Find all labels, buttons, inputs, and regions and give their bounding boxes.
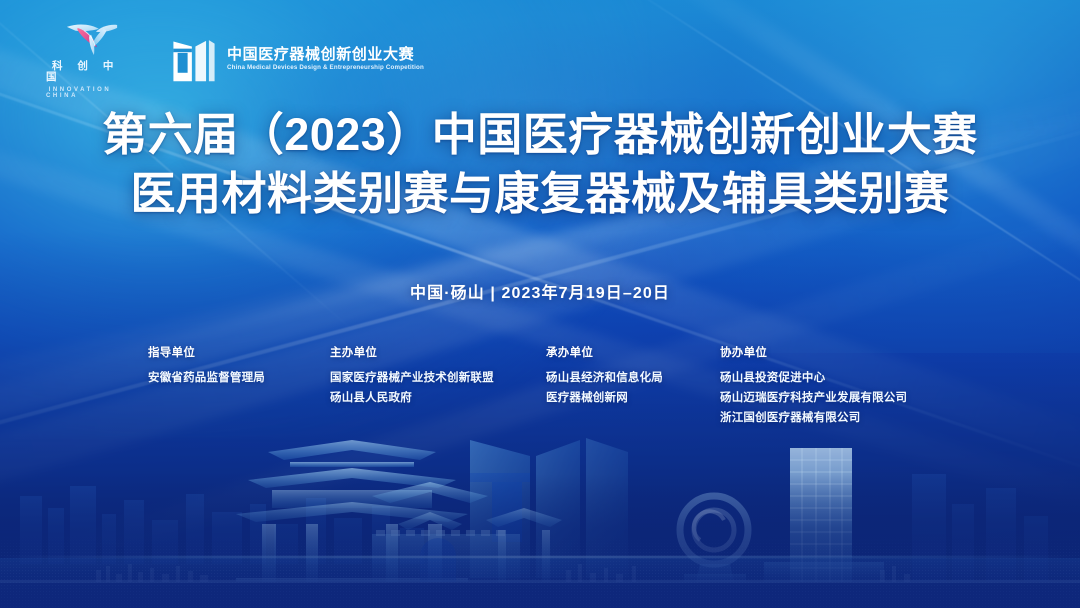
competition-cn-label: 中国医疗器械创新创业大赛: [227, 47, 424, 62]
organizer-heading: 主办单位: [330, 344, 546, 360]
innovation-china-bird-icon: [63, 20, 121, 58]
organizer-column-guidance: 指导单位 安徽省药品监督管理局: [148, 344, 330, 428]
organizer-heading: 承办单位: [546, 344, 720, 360]
event-location-date: 中国·砀山 | 2023年7月19日–20日: [0, 279, 1080, 303]
organizer-column-host: 主办单位 国家医疗器械产业技术创新联盟 砀山县人民政府: [330, 344, 546, 428]
organizer-item: 浙江国创医疗器械有限公司: [720, 409, 972, 429]
bottom-shadow-overlay: [0, 474, 1080, 608]
title-line-1: 第六届（2023）中国医疗器械创新创业大赛: [0, 106, 1080, 165]
logo-innovation-china: 科 创 中 国 INNOVATION CHINA: [46, 20, 138, 99]
open-door-icon: [172, 37, 216, 83]
organizer-item: 安徽省药品监督管理局: [148, 369, 330, 389]
organizer-heading: 协办单位: [720, 344, 972, 360]
organizer-item: 砀山县投资促进中心: [720, 369, 972, 389]
organizer-item: 砀山迈瑞医疗科技产业发展有限公司: [720, 389, 972, 409]
poster-title: 第六届（2023）中国医疗器械创新创业大赛 医用材料类别赛与康复器械及辅具类别赛: [0, 106, 1080, 223]
organizer-heading: 指导单位: [148, 344, 330, 360]
innovation-china-en-label: INNOVATION CHINA: [46, 87, 138, 99]
organizer-item: 国家医疗器械产业技术创新联盟: [330, 369, 546, 389]
header-logos: 科 创 中 国 INNOVATION CHINA 中国医疗器械创新创业大赛 Ch…: [46, 20, 424, 99]
poster-canvas: 科 创 中 国 INNOVATION CHINA 中国医疗器械创新创业大赛 Ch…: [0, 0, 1080, 608]
organizer-column-coorganizer: 协办单位 砀山县投资促进中心 砀山迈瑞医疗科技产业发展有限公司 浙江国创医疗器械…: [720, 344, 972, 428]
organizer-item: 砀山县人民政府: [330, 389, 546, 409]
logo-competition: 中国医疗器械创新创业大赛 China Medical Devices Desig…: [172, 37, 424, 83]
organizer-column-organizer: 承办单位 砀山县经济和信息化局 医疗器械创新网: [546, 344, 720, 428]
innovation-china-cn-label: 科 创 中 国: [46, 61, 138, 82]
title-line-2: 医用材料类别赛与康复器械及辅具类别赛: [0, 165, 1080, 224]
organizer-item: 砀山县经济和信息化局: [546, 369, 720, 389]
organizer-item: 医疗器械创新网: [546, 389, 720, 409]
organizers-block: 指导单位 安徽省药品监督管理局 主办单位 国家医疗器械产业技术创新联盟 砀山县人…: [148, 344, 972, 428]
competition-en-label: China Medical Devices Design & Entrepren…: [227, 65, 424, 71]
competition-logo-text: 中国医疗器械创新创业大赛 China Medical Devices Desig…: [227, 47, 424, 71]
